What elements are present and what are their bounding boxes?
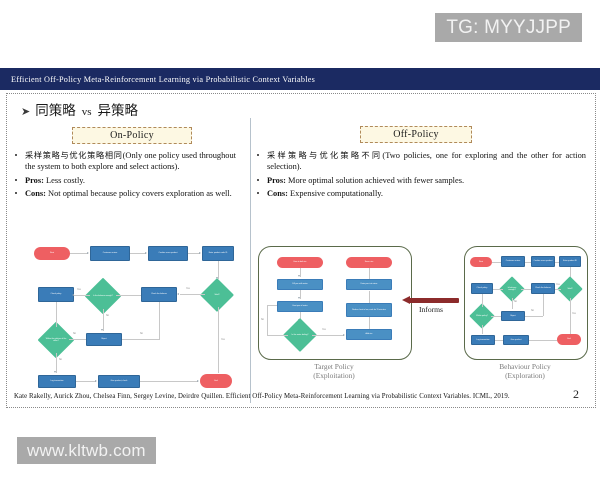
caption-line: Target Policy <box>258 362 410 371</box>
flow-edge <box>493 289 503 290</box>
list-item: Cons: Expensive computationally. <box>256 188 586 199</box>
arrow-icon <box>101 329 103 331</box>
arrow-icon <box>199 252 201 254</box>
arrow-icon <box>95 380 97 382</box>
on-policy-flowchart: Start Customer arrives Cashier scans pro… <box>28 243 236 393</box>
flow-node-drain-pan: Drain pan into sieve <box>346 279 392 290</box>
flow-edge <box>491 316 501 317</box>
flow-edge-label: No <box>59 359 62 361</box>
flow-edge <box>159 302 160 340</box>
list-item: 采样策略与优化策略相同(Only one policy used through… <box>14 150 236 173</box>
citation-text: Kate Rakelly, Aurick Zhou, Chelsea Finn,… <box>14 393 554 400</box>
flow-edge <box>69 339 86 340</box>
slide-root: TG: MYYJJPP Efficient Off-Policy Meta-Re… <box>0 0 600 480</box>
flow-edge-label: No <box>531 310 534 312</box>
list-item: Pros: More optimal solution achieved wit… <box>256 175 586 186</box>
flow-edge <box>56 353 57 373</box>
flow-node-heat-pan: Heat pan of water <box>277 301 323 312</box>
flow-node-check-balance: Check the balance <box>141 287 177 302</box>
flow-edge <box>267 305 277 306</box>
flow-edge <box>512 298 513 309</box>
flow-edge-label: Yes <box>572 313 576 315</box>
flow-node-enter-code: Enter product code ID <box>202 246 234 261</box>
watermark-bottom: www.kltwb.com <box>17 437 156 464</box>
informs-arrow: Informs <box>402 296 460 320</box>
flow-edge <box>180 294 205 295</box>
flow-node-check-policy: Check policy <box>38 287 74 302</box>
flow-node-reject: Reject <box>501 311 525 321</box>
flow-edge <box>369 268 370 279</box>
off-policy-bullet-list: 采样策略与优化策略不同(Two policies, one for explor… <box>256 150 586 202</box>
flow-edge <box>529 340 557 341</box>
flow-node-reject: Reject <box>86 333 122 346</box>
flow-node-check-policy: Check policy <box>471 283 493 294</box>
heading-vs: vs <box>81 106 93 118</box>
target-policy-panel: How to boil rice Fill pan with water Hea… <box>258 246 412 360</box>
flow-edge-label: Yes <box>556 284 560 286</box>
arrow-icon <box>54 371 56 373</box>
caption-line: (Exploitation) <box>258 371 410 380</box>
flow-node-serve-rice: Serve rice <box>346 257 392 268</box>
flow-node-end: End <box>557 334 581 345</box>
flow-edge <box>482 325 483 334</box>
page-title: ➤ 同策略 vs 异策略 <box>21 99 138 119</box>
flow-edge <box>570 298 571 334</box>
flow-node-customer-arrives: Customer arrives <box>90 246 130 261</box>
flow-edge-label: Yes <box>77 289 81 291</box>
arrow-icon <box>72 294 74 296</box>
flow-edge <box>492 262 501 263</box>
flow-edge-label: No <box>140 333 143 335</box>
flow-node-reduce-heat: Reduce heat to low, cook for 15 minutes <box>346 303 392 317</box>
arrow-icon <box>343 334 345 336</box>
flow-edge <box>369 291 370 303</box>
behaviour-policy-caption: Behaviour Policy (Exploration) <box>464 362 586 380</box>
flow-edge <box>525 316 543 317</box>
arrow-bullet-icon: ➤ <box>21 105 30 118</box>
flow-edge <box>74 295 90 296</box>
flow-node-give-product: Give product, check <box>98 375 140 388</box>
flow-edge-label: Yes <box>186 288 190 290</box>
watermark-top: TG: MYYJJPP <box>435 13 582 42</box>
flow-node-fill-pan: Fill pan with water <box>277 279 323 290</box>
flow-edge <box>543 294 544 316</box>
flow-edge <box>555 289 561 290</box>
column-divider <box>250 118 251 403</box>
flow-edge-label: No <box>106 315 109 317</box>
flow-edge <box>116 295 141 296</box>
flow-edge-label: Yes <box>221 339 225 341</box>
flow-node-valid: Valid? <box>200 278 234 312</box>
target-policy-caption: Target Policy (Exploitation) <box>258 362 410 380</box>
flow-edge <box>495 340 503 341</box>
arrow-icon <box>145 252 147 254</box>
flow-edge <box>369 317 370 329</box>
flow-node-how-to-boil-rice: How to boil rice <box>277 257 323 268</box>
flow-node-check-balance: Check the balance <box>531 283 555 294</box>
flow-edge <box>267 335 288 336</box>
arrow-icon <box>197 380 199 382</box>
flow-node-cashier-scans: Cashier scans product <box>148 246 188 261</box>
flow-edge <box>103 309 104 331</box>
informs-arrow-bar <box>409 298 459 303</box>
flow-edge <box>76 381 96 382</box>
arrow-icon <box>177 293 179 295</box>
behaviour-policy-panel: Start Customer arrives Cashier scans pro… <box>464 246 588 360</box>
arrow-icon <box>298 275 300 277</box>
informs-arrow-head-icon <box>402 296 410 304</box>
slide-title-bar: Efficient Off-Policy Meta-Reinforcement … <box>0 68 600 90</box>
flow-edge <box>521 289 531 290</box>
flow-edge-label: Yes <box>322 329 326 331</box>
heading-right-term: 异策略 <box>98 99 139 119</box>
flow-edge <box>312 335 344 336</box>
on-policy-bullet-list: 采样策略与优化策略相同(Only one policy used through… <box>14 150 236 202</box>
flow-edge-label: No <box>514 301 517 303</box>
list-item: 采样策略与优化策略不同(Two policies, one for explor… <box>256 150 586 173</box>
on-policy-chip: On-Policy <box>72 127 192 144</box>
flow-node-start: Start <box>34 247 70 260</box>
flow-node-cashier-scans: Cashier scans product <box>531 256 555 267</box>
flow-edge <box>122 339 159 340</box>
flow-edge <box>218 307 219 373</box>
slide-title-text: Efficient Off-Policy Meta-Reinforcement … <box>0 75 315 84</box>
flow-edge <box>70 253 88 254</box>
flow-edge <box>56 302 57 327</box>
page-number: 2 <box>566 387 586 402</box>
caption-line: (Exploration) <box>464 371 586 380</box>
flow-node-end: End <box>200 374 232 388</box>
flow-edge-label: No <box>73 333 76 335</box>
flow-edge <box>140 381 198 382</box>
flow-edge-label: No <box>261 319 264 321</box>
flow-node-log-transaction: Log transaction <box>38 375 76 388</box>
off-policy-chip: Off-Policy <box>360 126 472 143</box>
arrow-icon <box>298 297 300 299</box>
flow-node-enter-id: Enter product ID <box>559 256 581 267</box>
arrow-icon <box>87 252 89 254</box>
caption-line: Behaviour Policy <box>464 362 586 371</box>
flow-edge <box>130 253 146 254</box>
flow-edge <box>267 305 268 335</box>
informs-label: Informs <box>402 305 460 314</box>
heading-left-term: 同策略 <box>35 99 76 119</box>
list-item: Cons: Not optimal because policy covers … <box>14 188 236 199</box>
flow-node-log-transaction: Log transaction <box>471 335 495 345</box>
flow-node-start: Start <box>470 257 492 267</box>
flow-edge <box>482 294 483 307</box>
list-item: Pros: Less costly. <box>14 175 236 186</box>
flow-node-add-rice: Add rice <box>346 329 392 340</box>
flow-node-give-product: Give product <box>503 335 529 345</box>
flow-node-customer-arrives: Customer arrives <box>501 256 525 267</box>
